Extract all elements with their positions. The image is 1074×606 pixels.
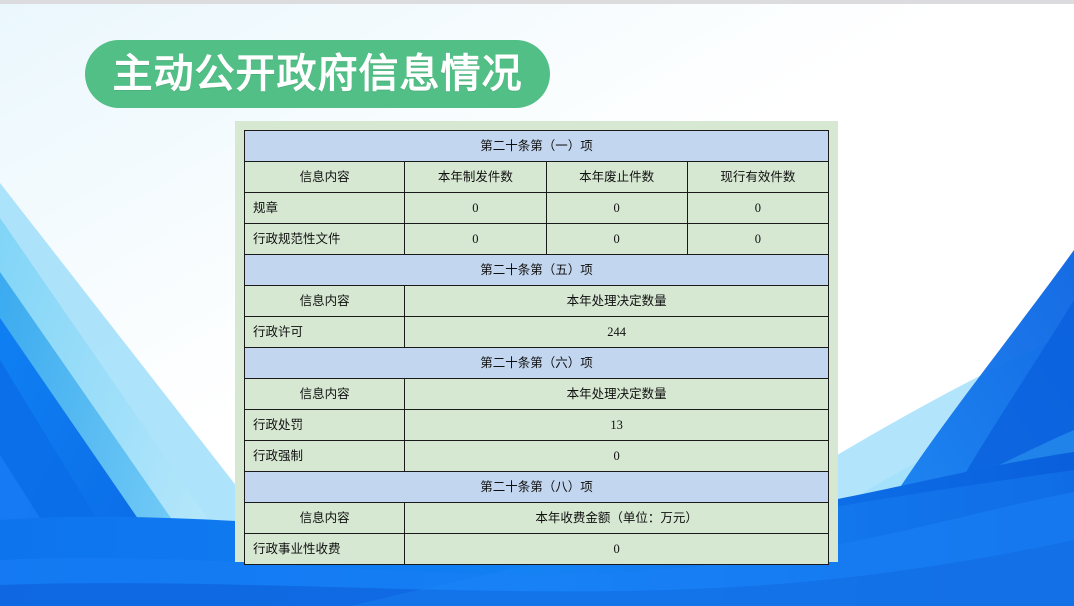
col-header-info-content: 信息内容: [245, 286, 405, 317]
row-label-administrative-penalty: 行政处罚: [245, 410, 405, 441]
section-banner-item-8: 第二十条第（八）项: [245, 472, 829, 503]
cell-normative-issued: 0: [405, 224, 546, 255]
section-banner-row: 第二十条第（五）项: [245, 255, 829, 286]
col-header-decisions-count: 本年处理决定数量: [405, 286, 829, 317]
col-header-decisions-count: 本年处理决定数量: [405, 379, 829, 410]
table-row: 行政许可 244: [245, 317, 829, 348]
row-label-administrative-license: 行政许可: [245, 317, 405, 348]
cell-administrative-fees-amount: 0: [405, 534, 829, 565]
section-banner-row: 第二十条第（一）项: [245, 131, 829, 162]
table-row: 行政事业性收费 0: [245, 534, 829, 565]
section-banner-row: 第二十条第（八）项: [245, 472, 829, 503]
column-header-row: 信息内容 本年制发件数 本年废止件数 现行有效件数: [245, 162, 829, 193]
cell-administrative-compulsion-count: 0: [405, 441, 829, 472]
col-header-info-content: 信息内容: [245, 503, 405, 534]
col-header-abolished-count: 本年废止件数: [546, 162, 687, 193]
cell-normative-effective: 0: [687, 224, 828, 255]
cell-normative-abolished: 0: [546, 224, 687, 255]
government-info-disclosure-table: 第二十条第（一）项 信息内容 本年制发件数 本年废止件数 现行有效件数 规章 0…: [244, 130, 829, 565]
col-header-fee-amount: 本年收费金额（单位：万元）: [405, 503, 829, 534]
table-row: 行政强制 0: [245, 441, 829, 472]
page-title: 主动公开政府信息情况: [113, 54, 523, 94]
col-header-issued-count: 本年制发件数: [405, 162, 546, 193]
column-header-row: 信息内容 本年处理决定数量: [245, 286, 829, 317]
column-header-row: 信息内容 本年处理决定数量: [245, 379, 829, 410]
section-banner-item-6: 第二十条第（六）项: [245, 348, 829, 379]
row-label-normative-documents: 行政规范性文件: [245, 224, 405, 255]
section-banner-item-1: 第二十条第（一）项: [245, 131, 829, 162]
slide-title-pill: 主动公开政府信息情况: [85, 40, 550, 108]
row-label-administrative-fees: 行政事业性收费: [245, 534, 405, 565]
column-header-row: 信息内容 本年收费金额（单位：万元）: [245, 503, 829, 534]
cell-regulations-issued: 0: [405, 193, 546, 224]
slide-canvas: 主动公开政府信息情况 第二十条第（一）项 信息内容 本年制发件数 本年废止件数 …: [0, 0, 1074, 606]
table-row: 行政处罚 13: [245, 410, 829, 441]
section-banner-row: 第二十条第（六）项: [245, 348, 829, 379]
cell-administrative-license-count: 244: [405, 317, 829, 348]
cell-regulations-effective: 0: [687, 193, 828, 224]
section-banner-item-5: 第二十条第（五）项: [245, 255, 829, 286]
col-header-effective-count: 现行有效件数: [687, 162, 828, 193]
cell-administrative-penalty-count: 13: [405, 410, 829, 441]
col-header-info-content: 信息内容: [245, 379, 405, 410]
row-label-regulations: 规章: [245, 193, 405, 224]
table-row: 行政规范性文件 0 0 0: [245, 224, 829, 255]
col-header-info-content: 信息内容: [245, 162, 405, 193]
cell-regulations-abolished: 0: [546, 193, 687, 224]
table-frame: 第二十条第（一）项 信息内容 本年制发件数 本年废止件数 现行有效件数 规章 0…: [235, 121, 838, 562]
row-label-administrative-compulsion: 行政强制: [245, 441, 405, 472]
top-edge-strip: [0, 0, 1074, 4]
table-row: 规章 0 0 0: [245, 193, 829, 224]
